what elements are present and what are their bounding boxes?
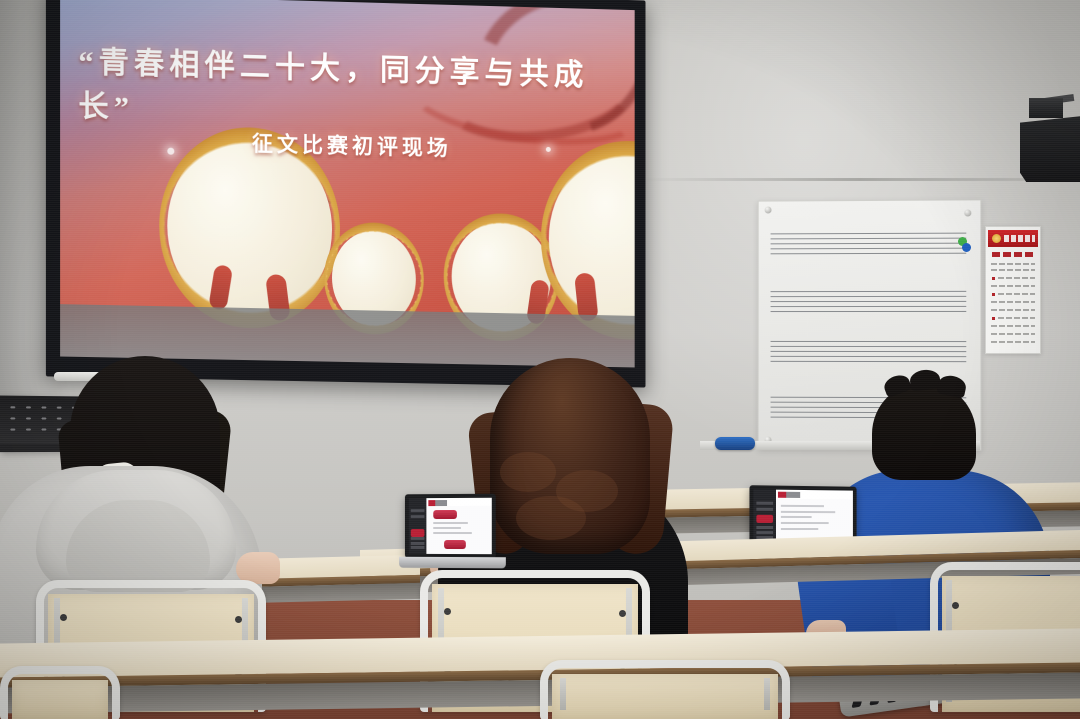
wall-seam bbox=[640, 178, 1080, 181]
notice-header-band bbox=[988, 230, 1038, 247]
classroom-photo: “青春相伴二十大，同分享与共成长” 征文比赛初评现场 bbox=[0, 0, 1080, 719]
projected-slide: “青春相伴二十大，同分享与共成长” 征文比赛初评现场 bbox=[60, 0, 635, 367]
app-logo bbox=[429, 500, 447, 506]
school-emblem-icon bbox=[992, 234, 1001, 243]
laptop-left[interactable] bbox=[405, 494, 496, 569]
wall-notice-poster[interactable] bbox=[985, 226, 1041, 354]
app-sidebar[interactable] bbox=[409, 498, 427, 554]
staff-group bbox=[771, 233, 967, 256]
chair-front-left[interactable] bbox=[0, 666, 120, 719]
notice-heading bbox=[992, 252, 1034, 257]
slide-title: “青春相伴二十大，同分享与共成长” bbox=[78, 37, 634, 140]
chair-front-center[interactable] bbox=[540, 660, 790, 719]
staff-group bbox=[771, 291, 967, 313]
laptop-left-keyboard[interactable] bbox=[399, 557, 506, 569]
sparkle bbox=[167, 148, 174, 155]
projection-screen[interactable]: “青春相伴二十大，同分享与共成长” 征文比赛初评现场 bbox=[46, 0, 646, 388]
laptop-left-screen[interactable] bbox=[409, 498, 492, 554]
staff-group bbox=[771, 341, 967, 363]
app-logo bbox=[778, 492, 800, 498]
blue-magnet-icon[interactable] bbox=[962, 243, 971, 252]
whiteboard-eraser[interactable] bbox=[715, 437, 755, 450]
submit-button[interactable] bbox=[444, 540, 466, 549]
wall-speaker bbox=[1020, 116, 1080, 182]
drums-graphic bbox=[60, 141, 635, 324]
speaker-mount bbox=[1029, 98, 1063, 118]
hood-inner bbox=[66, 500, 210, 592]
primary-action-button[interactable] bbox=[433, 510, 456, 519]
app-content-area[interactable] bbox=[427, 506, 492, 555]
